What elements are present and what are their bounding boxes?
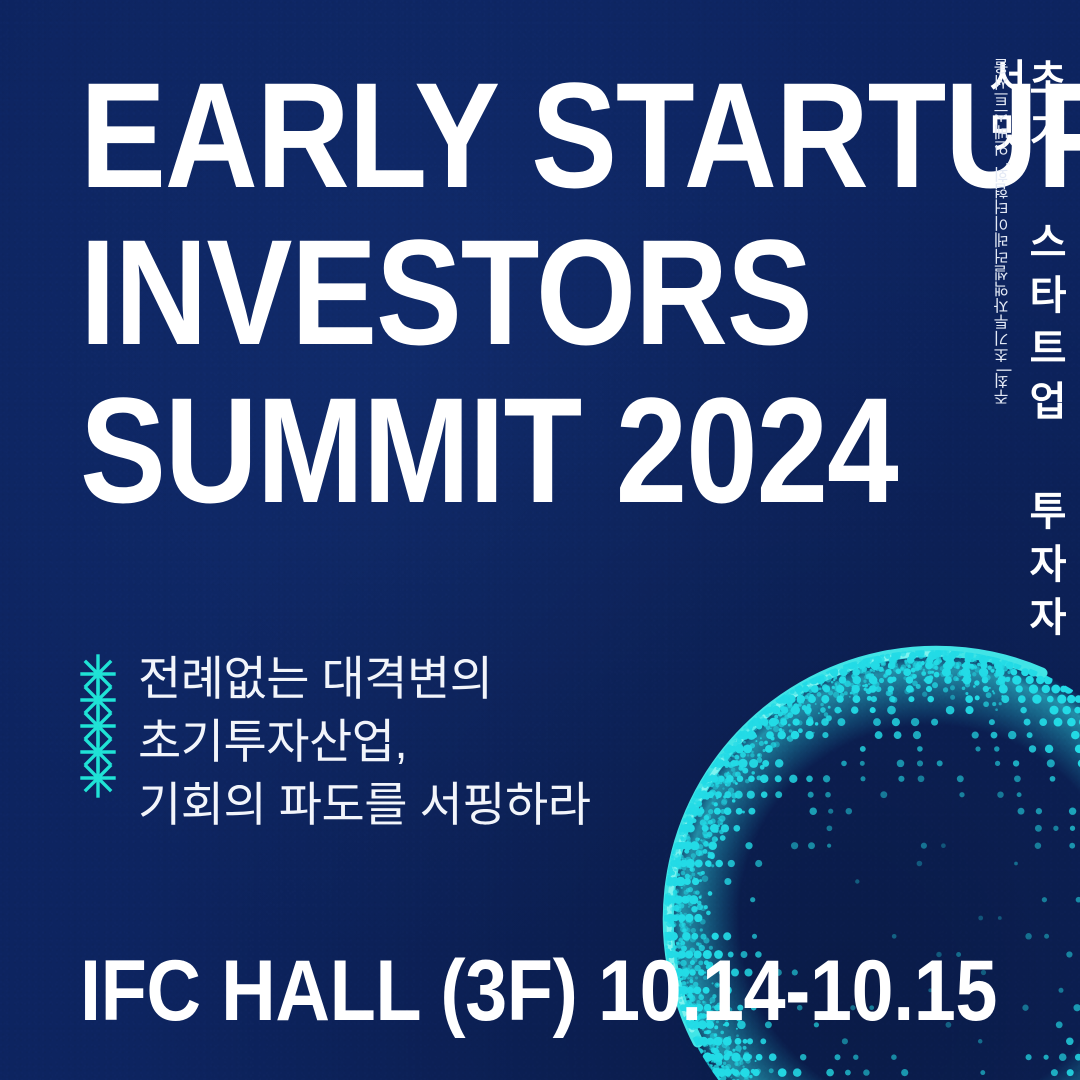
tagline-line-1: 전례없는 대격변의 bbox=[138, 648, 591, 711]
tagline-line-2: 초기투자산업, bbox=[138, 711, 591, 774]
vertical-title-korean: 초기 스타트업 투자자 서밋 bbox=[1016, 58, 1080, 678]
vertical-host-credit: 주최| 초기투자액셀러레이터협회, 인베스트서울 bbox=[996, 58, 1012, 415]
tagline-line-3: 기회의 파도를 서핑하라 bbox=[138, 774, 591, 837]
headline-line-3: SUMMIT 2024 bbox=[80, 379, 759, 522]
poster-canvas: EARLY STARTUP INVESTORS SUMMIT 2024 초기 스… bbox=[0, 0, 1080, 1080]
headline: EARLY STARTUP INVESTORS SUMMIT 2024 bbox=[80, 64, 870, 522]
tagline-text: 전례없는 대격변의 초기투자산업, 기회의 파도를 서핑하라 bbox=[138, 648, 591, 837]
headline-line-2: INVESTORS bbox=[80, 221, 759, 364]
tagline-block: 전례없는 대격변의 초기투자산업, 기회의 파도를 서핑하라 bbox=[78, 648, 591, 837]
asterisk-icon bbox=[78, 758, 118, 798]
headline-line-1: EARLY STARTUP bbox=[80, 64, 759, 207]
venue-date-line: IFC HALL (3F) 10.14-10.15 bbox=[80, 948, 997, 1034]
vertical-text-column: 초기 스타트업 투자자 서밋 주최| 초기투자액셀러레이터협회, 인베스트서울 bbox=[996, 58, 1080, 678]
asterisk-marker-group bbox=[78, 654, 118, 798]
